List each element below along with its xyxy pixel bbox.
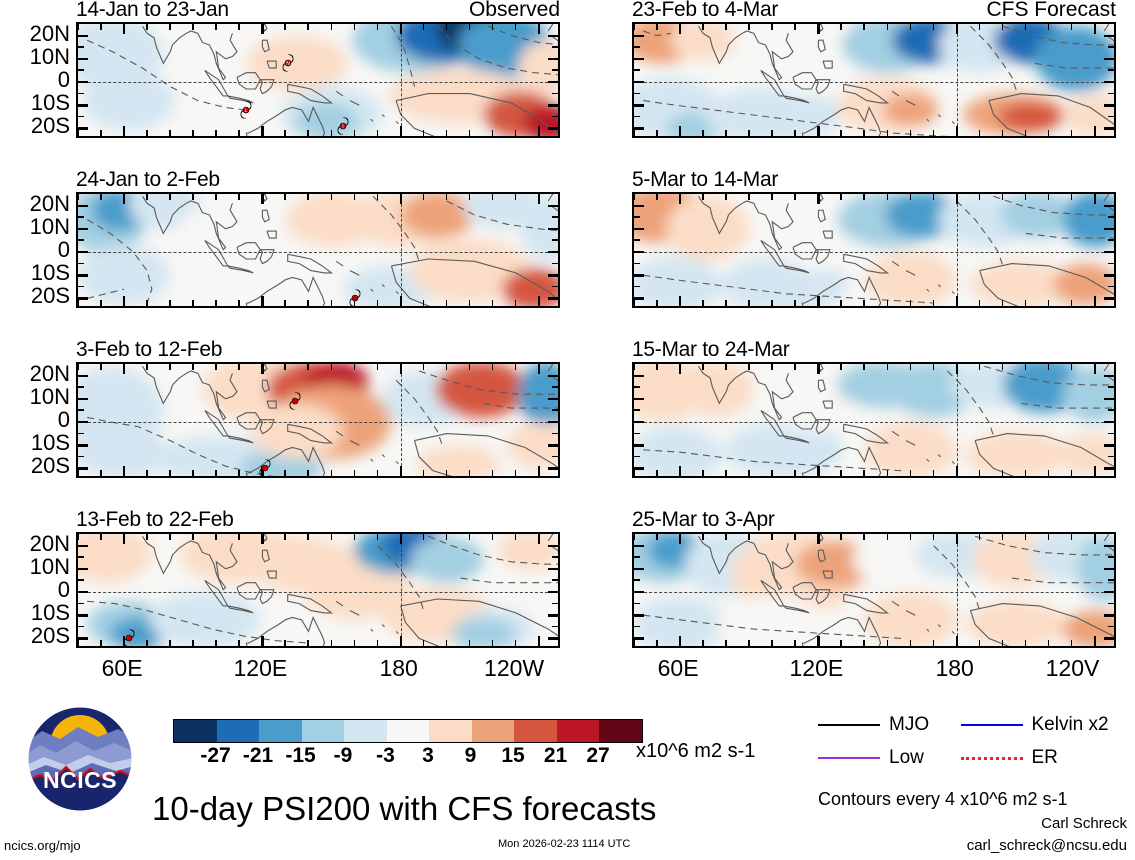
equator-line bbox=[634, 592, 1114, 593]
axis-tick bbox=[261, 126, 263, 136]
axis-tick bbox=[307, 130, 309, 136]
axis-tick bbox=[552, 626, 558, 628]
axis-tick bbox=[634, 545, 644, 547]
x-axis-label: 120E bbox=[790, 655, 844, 682]
axis-tick bbox=[1108, 286, 1114, 288]
axis-tick bbox=[400, 296, 402, 306]
axis-tick bbox=[679, 364, 681, 374]
axis-tick bbox=[634, 556, 640, 558]
axis-tick bbox=[77, 364, 79, 370]
axis-tick bbox=[634, 239, 640, 241]
axis-tick bbox=[78, 286, 84, 288]
axis-tick bbox=[78, 467, 88, 469]
axis-tick bbox=[634, 116, 640, 118]
generation-timestamp: Mon 2026-02-23 1114 UTC bbox=[498, 838, 630, 850]
axis-tick bbox=[840, 300, 842, 306]
colorbar-segment[interactable] bbox=[174, 720, 217, 742]
axis-tick bbox=[679, 126, 681, 136]
axis-tick bbox=[1104, 568, 1114, 570]
axis-tick bbox=[1104, 591, 1114, 593]
tropical-cyclone-marker bbox=[348, 290, 361, 307]
axis-tick bbox=[633, 364, 635, 370]
map-panel: 3-Feb to 12-Feb20N10N010S20S bbox=[76, 362, 560, 478]
equator-line bbox=[634, 252, 1114, 253]
axis-tick bbox=[515, 300, 517, 306]
axis-tick bbox=[1071, 534, 1073, 540]
legend-item: MJO bbox=[818, 714, 939, 736]
axis-tick bbox=[725, 640, 727, 646]
axis-tick bbox=[238, 534, 240, 540]
axis-tick bbox=[552, 46, 558, 48]
axis-tick bbox=[78, 251, 88, 253]
axis-tick bbox=[192, 130, 194, 136]
axis-tick bbox=[552, 409, 558, 411]
axis-tick bbox=[933, 194, 935, 200]
dateline-line bbox=[401, 194, 402, 306]
axis-tick bbox=[78, 239, 84, 241]
axis-tick bbox=[492, 300, 494, 306]
axis-tick bbox=[748, 130, 750, 136]
colorbar-segment[interactable] bbox=[344, 720, 387, 742]
axis-tick bbox=[548, 421, 558, 423]
axis-tick bbox=[552, 263, 558, 265]
axis-tick bbox=[77, 194, 79, 200]
map-panel: 14-Jan to 23-JanObservedNLI20N10N010S20S bbox=[76, 22, 560, 138]
axis-tick bbox=[548, 297, 558, 299]
axis-tick bbox=[169, 640, 171, 646]
axis-tick bbox=[261, 24, 263, 34]
axis-tick bbox=[331, 24, 333, 30]
colorbar-segment[interactable] bbox=[217, 720, 260, 742]
y-axis-label: 10S bbox=[31, 430, 70, 456]
y-axis-label: 10N bbox=[30, 384, 70, 410]
axis-tick bbox=[123, 534, 125, 544]
axis-tick bbox=[633, 194, 635, 200]
axis-tick bbox=[933, 130, 935, 136]
axis-tick bbox=[77, 470, 79, 476]
axis-tick bbox=[863, 300, 865, 306]
axis-tick bbox=[910, 534, 912, 540]
axis-tick bbox=[979, 534, 981, 540]
axis-tick bbox=[423, 640, 425, 646]
axis-tick bbox=[633, 130, 635, 136]
equator-line bbox=[78, 252, 558, 253]
colorbar-tick-label: -3 bbox=[376, 744, 395, 768]
colorbar-segment[interactable] bbox=[387, 720, 430, 742]
axis-tick bbox=[215, 24, 217, 30]
axis-tick bbox=[1071, 130, 1073, 136]
axis-tick bbox=[1025, 300, 1027, 306]
axis-tick bbox=[515, 194, 517, 200]
axis-tick bbox=[634, 35, 644, 37]
axis-tick bbox=[840, 640, 842, 646]
colorbar-tick-label: 21 bbox=[544, 744, 567, 768]
axis-tick bbox=[377, 364, 379, 370]
axis-tick bbox=[863, 24, 865, 30]
dateline-line bbox=[401, 364, 402, 476]
axis-tick bbox=[215, 534, 217, 540]
axis-tick bbox=[552, 286, 558, 288]
y-axis-label: 20S bbox=[31, 623, 70, 649]
y-axis-label: 0 bbox=[58, 237, 70, 263]
axis-tick bbox=[679, 534, 681, 544]
map-plot-area bbox=[76, 362, 560, 478]
axis-tick bbox=[634, 93, 640, 95]
axis-tick bbox=[446, 640, 448, 646]
axis-tick bbox=[354, 24, 356, 30]
tropical-cyclone-marker: L bbox=[240, 101, 253, 118]
axis-tick bbox=[446, 194, 448, 200]
axis-tick bbox=[446, 470, 448, 476]
axis-tick bbox=[1025, 364, 1027, 370]
axis-tick bbox=[863, 364, 865, 370]
axis-tick bbox=[215, 470, 217, 476]
axis-tick bbox=[725, 364, 727, 370]
colorbar-segment[interactable] bbox=[302, 720, 345, 742]
axis-tick bbox=[492, 194, 494, 200]
panel-column-header: Observed bbox=[469, 0, 560, 22]
axis-tick bbox=[400, 466, 402, 476]
axis-tick bbox=[1104, 35, 1114, 37]
axis-tick bbox=[100, 24, 102, 30]
axis-tick bbox=[1002, 130, 1004, 136]
axis-tick bbox=[331, 534, 333, 540]
panel-title: 23-Feb to 4-Mar bbox=[632, 0, 778, 22]
axis-tick bbox=[169, 300, 171, 306]
axis-tick bbox=[552, 456, 558, 458]
axis-tick bbox=[78, 69, 84, 71]
axis-tick bbox=[548, 228, 558, 230]
colorbar-segment[interactable] bbox=[259, 720, 302, 742]
axis-tick bbox=[1094, 24, 1096, 34]
axis-tick bbox=[634, 46, 640, 48]
axis-tick bbox=[979, 130, 981, 136]
axis-tick bbox=[702, 130, 704, 136]
axis-tick bbox=[634, 297, 644, 299]
axis-tick bbox=[146, 300, 148, 306]
axis-tick bbox=[933, 300, 935, 306]
tropical-cyclone-marker bbox=[288, 393, 301, 410]
axis-tick bbox=[840, 364, 842, 370]
axis-tick bbox=[354, 470, 356, 476]
axis-tick bbox=[634, 386, 640, 388]
axis-tick bbox=[1104, 104, 1114, 106]
axis-tick bbox=[548, 274, 558, 276]
axis-tick bbox=[679, 24, 681, 34]
axis-tick bbox=[78, 205, 88, 207]
axis-tick bbox=[1071, 24, 1073, 30]
colorbar-tick-label: 27 bbox=[586, 744, 609, 768]
map-plot-area bbox=[76, 192, 560, 308]
axis-tick bbox=[979, 300, 981, 306]
axis-tick bbox=[794, 24, 796, 30]
axis-tick bbox=[552, 239, 558, 241]
axis-tick bbox=[1025, 194, 1027, 200]
axis-tick bbox=[548, 545, 558, 547]
axis-tick bbox=[840, 534, 842, 540]
colorbar-tick-label: 9 bbox=[465, 744, 477, 768]
axis-tick bbox=[634, 398, 644, 400]
axis-tick bbox=[492, 640, 494, 646]
axis-tick bbox=[702, 364, 704, 370]
y-axis-label: 20N bbox=[30, 21, 70, 47]
axis-tick bbox=[1108, 93, 1114, 95]
axis-tick bbox=[400, 364, 402, 374]
axis-tick bbox=[538, 24, 540, 34]
axis-tick bbox=[1094, 296, 1096, 306]
axis-tick bbox=[634, 568, 644, 570]
axis-tick bbox=[634, 433, 640, 435]
axis-tick bbox=[656, 194, 658, 200]
axis-tick bbox=[679, 194, 681, 204]
axis-tick bbox=[307, 640, 309, 646]
axis-tick bbox=[552, 556, 558, 558]
y-axis-label: 20N bbox=[30, 361, 70, 387]
low-frequency-contours bbox=[634, 534, 1116, 648]
colorbar-segment[interactable] bbox=[599, 720, 642, 742]
axis-tick bbox=[261, 296, 263, 306]
axis-tick bbox=[469, 534, 471, 540]
axis-tick bbox=[771, 470, 773, 476]
axis-tick bbox=[1048, 300, 1050, 306]
axis-tick bbox=[656, 470, 658, 476]
axis-tick bbox=[261, 364, 263, 374]
axis-tick bbox=[1071, 300, 1073, 306]
y-axis-label: 10S bbox=[31, 260, 70, 286]
axis-tick bbox=[817, 364, 819, 374]
panel-column-header: CFS Forecast bbox=[986, 0, 1116, 22]
page-title: 10-day PSI200 with CFS forecasts bbox=[152, 790, 656, 828]
axis-tick bbox=[354, 640, 356, 646]
axis-tick bbox=[146, 24, 148, 30]
axis-tick bbox=[78, 545, 88, 547]
axis-tick bbox=[469, 470, 471, 476]
panel-title: 13-Feb to 22-Feb bbox=[76, 508, 233, 532]
axis-tick bbox=[515, 130, 517, 136]
equator-line bbox=[634, 422, 1114, 423]
legend-line-swatch bbox=[961, 757, 1023, 760]
tropical-cyclone-marker: I bbox=[337, 118, 350, 135]
panel-title: 24-Jan to 2-Feb bbox=[76, 168, 220, 192]
axis-tick bbox=[910, 194, 912, 200]
axis-tick bbox=[817, 126, 819, 136]
axis-tick bbox=[78, 46, 84, 48]
axis-tick bbox=[1048, 470, 1050, 476]
axis-tick bbox=[307, 534, 309, 540]
map-plot-area bbox=[632, 532, 1116, 648]
colorbar-segment[interactable] bbox=[472, 720, 515, 742]
axis-tick bbox=[354, 130, 356, 136]
axis-tick bbox=[515, 364, 517, 370]
axis-tick bbox=[78, 398, 88, 400]
axis-tick bbox=[492, 534, 494, 540]
axis-tick bbox=[887, 534, 889, 540]
axis-tick bbox=[446, 300, 448, 306]
dateline-line bbox=[401, 24, 402, 136]
axis-tick bbox=[887, 470, 889, 476]
axis-tick bbox=[446, 534, 448, 540]
axis-tick bbox=[548, 127, 558, 129]
axis-tick bbox=[1002, 300, 1004, 306]
axis-tick bbox=[1104, 251, 1114, 253]
colorbar-tick-label: -9 bbox=[334, 744, 353, 768]
axis-tick bbox=[400, 534, 402, 544]
axis-tick bbox=[377, 640, 379, 646]
axis-tick bbox=[771, 130, 773, 136]
axis-tick bbox=[400, 126, 402, 136]
axis-tick bbox=[725, 194, 727, 200]
axis-tick bbox=[123, 126, 125, 136]
panel-title: 3-Feb to 12-Feb bbox=[76, 338, 222, 362]
axis-tick bbox=[956, 364, 958, 374]
axis-tick bbox=[1071, 470, 1073, 476]
axis-tick bbox=[552, 69, 558, 71]
axis-tick bbox=[910, 300, 912, 306]
axis-tick bbox=[78, 93, 84, 95]
axis-tick bbox=[1025, 534, 1027, 540]
axis-tick bbox=[887, 194, 889, 200]
axis-tick bbox=[284, 300, 286, 306]
axis-tick bbox=[538, 636, 540, 646]
axis-tick bbox=[794, 194, 796, 200]
axis-tick bbox=[840, 130, 842, 136]
axis-tick bbox=[1071, 640, 1073, 646]
axis-tick bbox=[77, 24, 79, 30]
axis-tick bbox=[469, 364, 471, 370]
panel-title: 15-Mar to 24-Mar bbox=[632, 338, 789, 362]
axis-tick bbox=[1104, 274, 1114, 276]
axis-tick bbox=[1048, 24, 1050, 30]
axis-tick bbox=[1108, 386, 1114, 388]
axis-tick bbox=[100, 364, 102, 370]
axis-tick bbox=[1025, 640, 1027, 646]
axis-tick bbox=[78, 409, 84, 411]
axis-tick bbox=[331, 364, 333, 370]
panel-title: 5-Mar to 14-Mar bbox=[632, 168, 778, 192]
axis-tick bbox=[887, 24, 889, 30]
axis-tick bbox=[446, 24, 448, 30]
axis-tick bbox=[656, 534, 658, 540]
axis-tick bbox=[423, 300, 425, 306]
equator-line bbox=[78, 82, 558, 83]
axis-tick bbox=[548, 81, 558, 83]
x-axis-label: 60E bbox=[102, 655, 143, 682]
axis-tick bbox=[1108, 116, 1114, 118]
axis-tick bbox=[887, 300, 889, 306]
axis-tick bbox=[261, 194, 263, 204]
legend-label: MJO bbox=[889, 714, 929, 736]
axis-tick bbox=[863, 470, 865, 476]
axis-tick bbox=[78, 116, 84, 118]
axis-tick bbox=[331, 640, 333, 646]
axis-tick bbox=[725, 130, 727, 136]
axis-tick bbox=[1108, 239, 1114, 241]
axis-tick bbox=[1104, 375, 1114, 377]
axis-tick bbox=[1002, 364, 1004, 370]
axis-tick bbox=[192, 24, 194, 30]
axis-tick bbox=[933, 470, 935, 476]
axis-tick bbox=[656, 130, 658, 136]
legend-item: Kelvin x2 bbox=[961, 714, 1119, 736]
axis-tick bbox=[979, 194, 981, 200]
axis-tick bbox=[78, 216, 84, 218]
axis-tick bbox=[634, 444, 644, 446]
axis-tick bbox=[261, 636, 263, 646]
axis-tick bbox=[123, 296, 125, 306]
axis-tick bbox=[307, 24, 309, 30]
axis-tick bbox=[492, 130, 494, 136]
colorbar-segment[interactable] bbox=[514, 720, 557, 742]
axis-tick bbox=[192, 470, 194, 476]
y-axis-label: 0 bbox=[58, 577, 70, 603]
axis-tick bbox=[1104, 58, 1114, 60]
axis-tick bbox=[748, 534, 750, 540]
axis-tick bbox=[538, 534, 540, 544]
axis-tick bbox=[100, 194, 102, 200]
axis-tick bbox=[1071, 194, 1073, 200]
author-name: Carl Schreck bbox=[1041, 815, 1127, 832]
map-panel: 15-Mar to 24-Mar bbox=[632, 362, 1116, 478]
axis-tick bbox=[634, 216, 640, 218]
axis-tick bbox=[1104, 444, 1114, 446]
axis-tick bbox=[634, 228, 644, 230]
axis-tick bbox=[238, 640, 240, 646]
axis-tick bbox=[552, 116, 558, 118]
axis-tick bbox=[261, 534, 263, 544]
axis-tick bbox=[1094, 534, 1096, 544]
low-frequency-contours bbox=[634, 194, 1116, 308]
axis-tick bbox=[1048, 364, 1050, 370]
axis-tick bbox=[78, 444, 88, 446]
axis-tick bbox=[1104, 127, 1114, 129]
y-axis-label: 20N bbox=[30, 531, 70, 557]
svg-text:N: N bbox=[286, 62, 290, 68]
axis-tick bbox=[794, 534, 796, 540]
y-axis-label: 20S bbox=[31, 283, 70, 309]
axis-tick bbox=[123, 194, 125, 204]
axis-tick bbox=[78, 614, 88, 616]
axis-tick bbox=[238, 194, 240, 200]
axis-tick bbox=[100, 470, 102, 476]
colorbar-segment[interactable] bbox=[557, 720, 600, 742]
axis-tick bbox=[146, 130, 148, 136]
map-panel: 5-Mar to 14-Mar bbox=[632, 192, 1116, 308]
colorbar[interactable] bbox=[173, 719, 643, 743]
axis-tick bbox=[552, 386, 558, 388]
axis-tick bbox=[78, 127, 88, 129]
axis-tick bbox=[840, 24, 842, 30]
axis-tick bbox=[1104, 637, 1114, 639]
axis-tick bbox=[634, 263, 640, 265]
axis-tick bbox=[1094, 194, 1096, 204]
panel-title: 25-Mar to 3-Apr bbox=[632, 508, 775, 532]
axis-tick bbox=[215, 364, 217, 370]
axis-tick bbox=[515, 534, 517, 540]
map-plot-area bbox=[632, 22, 1116, 138]
axis-tick bbox=[910, 364, 912, 370]
colorbar-segment[interactable] bbox=[429, 720, 472, 742]
axis-tick bbox=[634, 69, 640, 71]
dateline-line bbox=[957, 194, 958, 306]
axis-tick bbox=[656, 300, 658, 306]
axis-tick bbox=[748, 24, 750, 30]
axis-tick bbox=[215, 640, 217, 646]
axis-tick bbox=[1104, 228, 1114, 230]
axis-tick bbox=[331, 300, 333, 306]
axis-tick bbox=[840, 194, 842, 200]
axis-tick bbox=[979, 640, 981, 646]
axis-tick bbox=[377, 300, 379, 306]
